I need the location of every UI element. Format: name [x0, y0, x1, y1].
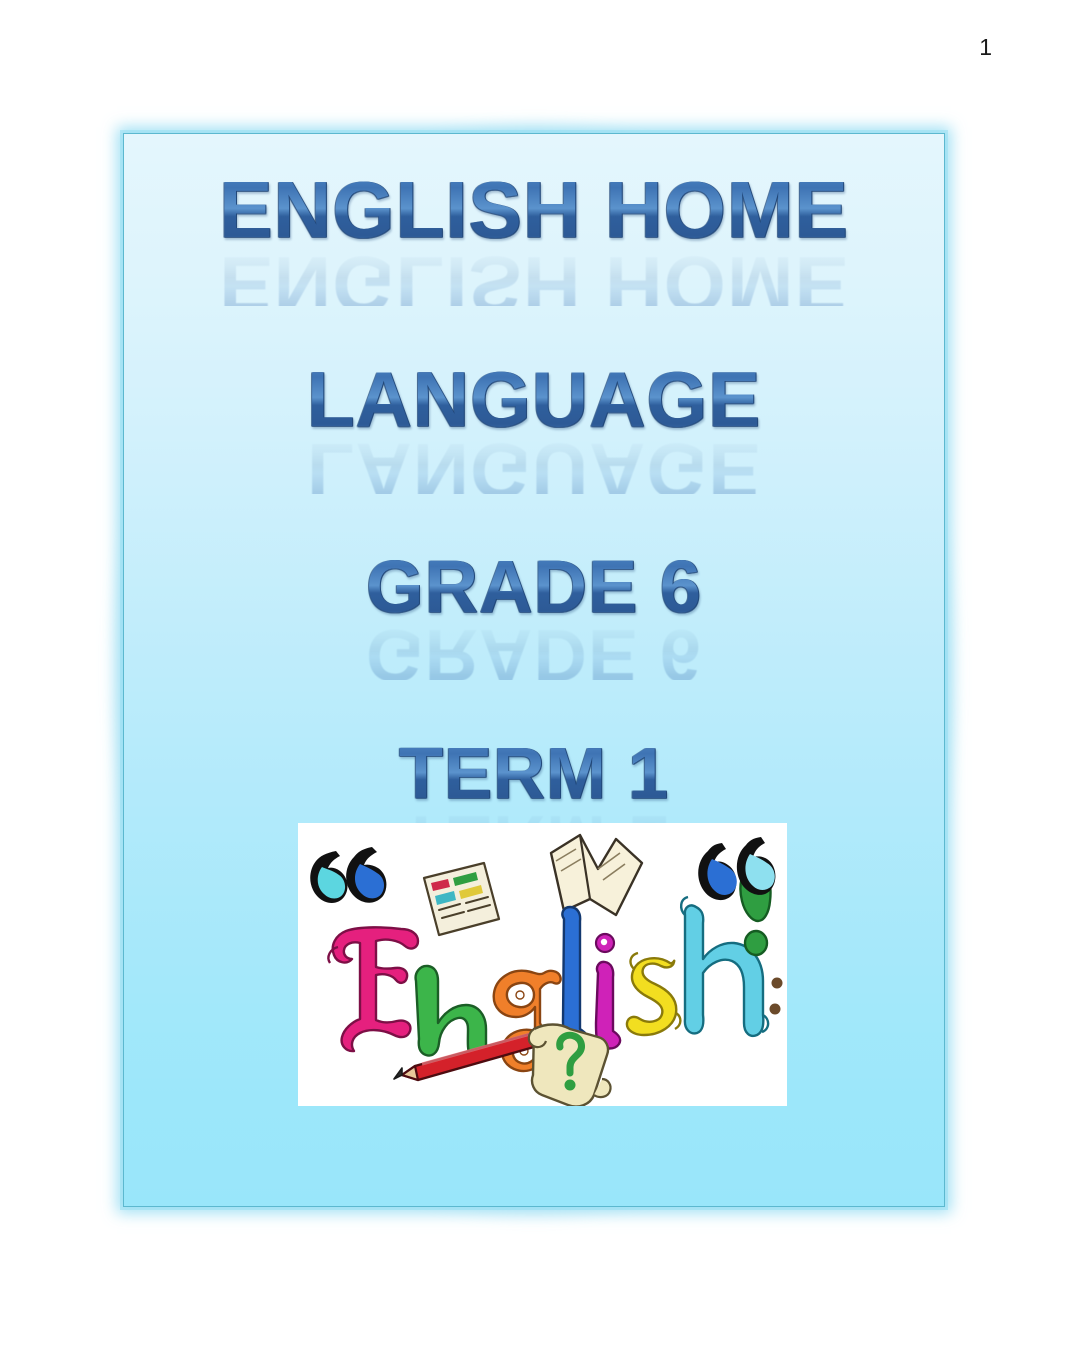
cover-card: ENGLISH HOME ENGLISH HOME LANGUAGE LANGU…: [123, 133, 945, 1207]
title-block: ENGLISH HOME ENGLISH HOME LANGUAGE LANGU…: [124, 156, 944, 866]
title-line-1: ENGLISH HOME ENGLISH HOME: [124, 170, 944, 306]
page-number: 1: [979, 36, 992, 59]
title-text-english-home: ENGLISH HOME: [219, 170, 849, 250]
title-text-grade: GRADE 6: [366, 550, 702, 624]
title-line-3: GRADE 6 GRADE 6: [124, 550, 944, 680]
english-clipart: [298, 823, 787, 1106]
title-text-term: TERM 1: [399, 738, 669, 810]
title-line-2: LANGUAGE LANGUAGE: [124, 360, 944, 494]
paper-scroll-icon: [529, 1025, 611, 1107]
title-text-language: LANGUAGE: [307, 360, 761, 438]
